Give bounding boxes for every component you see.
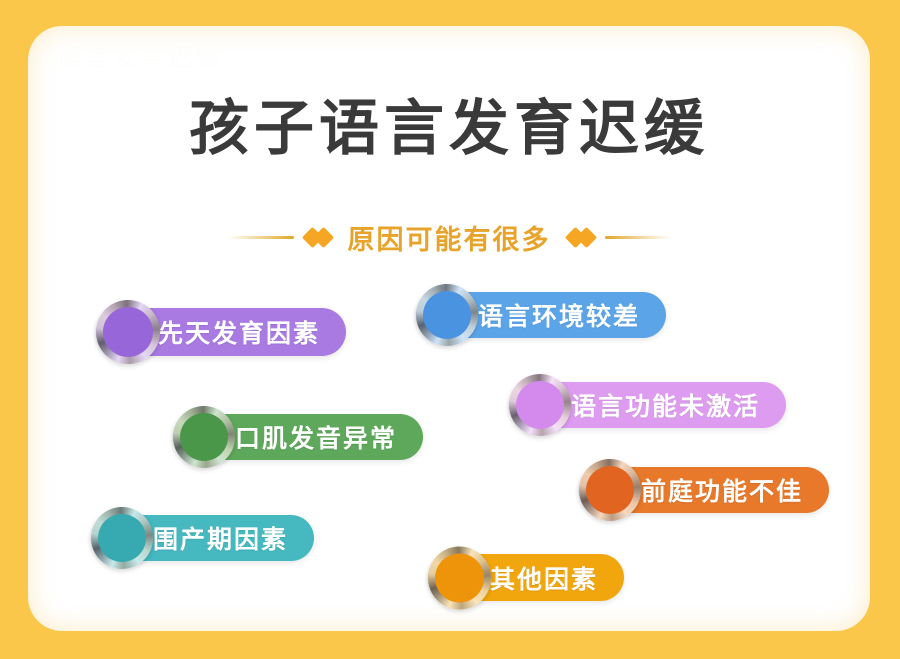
badge-item-1[interactable]: 先天发育因素 — [96, 308, 346, 356]
metallic-ring-icon-5 — [579, 459, 641, 521]
badge-item-2[interactable]: 语言环境较差 — [416, 292, 666, 338]
page-subtitle: 原因可能有很多 — [342, 218, 557, 257]
page-title: 孩子语言发育迟缓 — [28, 98, 870, 162]
metallic-ring-icon-7 — [428, 546, 491, 609]
metallic-ring-icon-6 — [91, 507, 153, 569]
badge-item-3[interactable]: 语言功能未激活 — [509, 382, 786, 428]
badge-item-5[interactable]: 前庭功能不佳 — [579, 467, 829, 513]
badge-item-6[interactable]: 围产期因素 — [91, 515, 314, 561]
badge-item-4[interactable]: 口肌发音异常 — [173, 414, 423, 460]
metallic-ring-icon-3 — [509, 374, 571, 436]
poster-root: 语言发育迟缓 孩子语言发育迟缓 原因可能有很多 先天发育因素 语言环境较差 — [0, 0, 900, 659]
ring-tint-7 — [428, 546, 491, 609]
ring-tint-4 — [173, 406, 235, 468]
rule-line-right — [605, 236, 671, 239]
badge-item-7[interactable]: 其他因素 — [428, 554, 624, 601]
ring-tint-1 — [96, 300, 160, 364]
metallic-ring-icon-1 — [96, 300, 160, 364]
diamond-icon-left — [305, 230, 331, 245]
ring-tint-5 — [579, 459, 641, 521]
subtitle-row: 原因可能有很多 — [28, 218, 870, 257]
metallic-ring-icon-2 — [416, 284, 478, 346]
diamond-icon-right — [568, 230, 594, 245]
poster-card: 语言发育迟缓 孩子语言发育迟缓 原因可能有很多 先天发育因素 语言环境较差 — [28, 26, 870, 631]
metallic-ring-icon-4 — [173, 406, 235, 468]
ring-tint-3 — [509, 374, 571, 436]
watermark-text: 语言发育迟缓 — [56, 38, 224, 74]
rule-line-left — [228, 236, 294, 239]
ring-tint-6 — [91, 507, 153, 569]
ring-tint-2 — [416, 284, 478, 346]
